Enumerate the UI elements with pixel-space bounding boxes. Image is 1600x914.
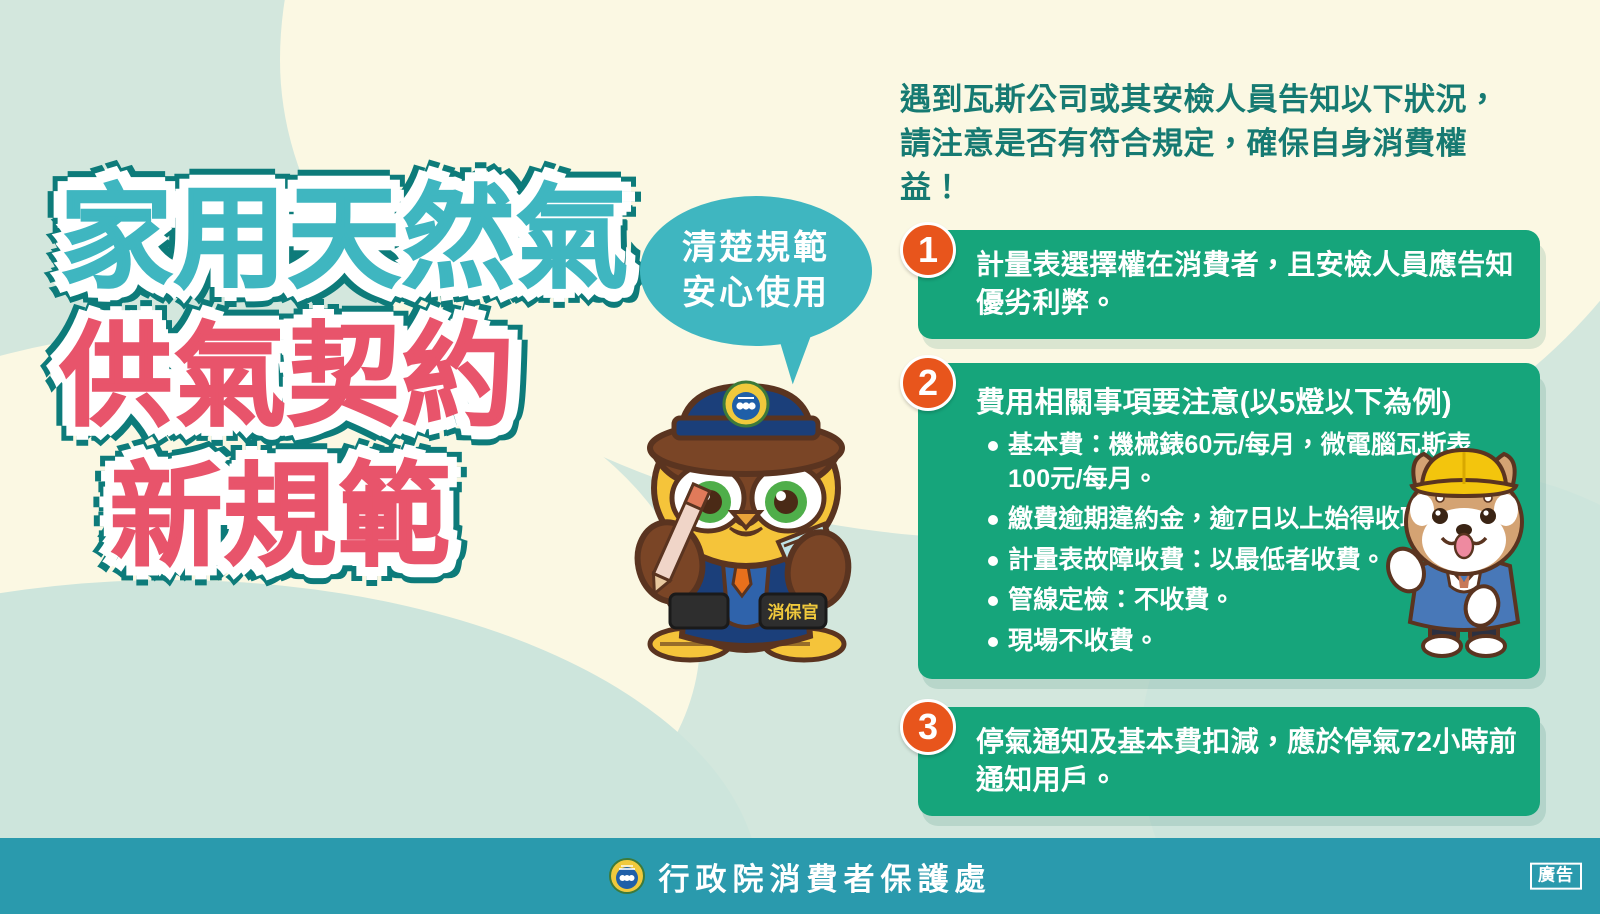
item-number-badge: 2 bbox=[900, 355, 956, 411]
item-number-badge: 1 bbox=[900, 222, 956, 278]
item-box: 1 計量表選擇權在消費者，且安檢人員應告知優劣利弊。 bbox=[918, 230, 1540, 339]
owl-mascot: 消保官 bbox=[612, 356, 880, 664]
ad-badge: 廣告 bbox=[1530, 863, 1582, 890]
title-line-2: 供氣契約 bbox=[60, 316, 680, 438]
item-text: 停氣通知及基本費扣減，應於停氣72小時前通知用戶。 bbox=[976, 723, 1520, 798]
bubble-line-2: 安心使用 bbox=[682, 271, 830, 316]
poster-title: 家用天然氣 供氣契約 新規範 bbox=[60, 178, 680, 579]
owl-badge: 消保官 bbox=[760, 594, 826, 628]
footer-agency-label: 行政院消費者保護處 bbox=[659, 854, 992, 899]
shiba-mascot bbox=[1378, 448, 1548, 660]
owl-police-cap bbox=[650, 382, 842, 474]
title-line-1: 家用天然氣 bbox=[60, 178, 680, 300]
item-heading: 費用相關事項要注意(以5燈以下為例) bbox=[976, 379, 1520, 421]
item-number-badge: 3 bbox=[900, 699, 956, 755]
title-line-3: 新規範 bbox=[110, 456, 680, 578]
list-item: 3 停氣通知及基本費扣減，應於停氣72小時前通知用戶。 bbox=[900, 707, 1540, 816]
government-logo-icon bbox=[609, 858, 645, 894]
item-box: 3 停氣通知及基本費扣減，應於停氣72小時前通知用戶。 bbox=[918, 707, 1540, 816]
speech-bubble: 清楚規範 安心使用 bbox=[640, 196, 872, 346]
list-item: 1 計量表選擇權在消費者，且安檢人員應告知優劣利弊。 bbox=[900, 230, 1540, 339]
footer-bar: 行政院消費者保護處 廣告 bbox=[0, 838, 1600, 914]
infographic-poster: 家用天然氣 供氣契約 新規範 清楚規範 安心使用 bbox=[0, 0, 1600, 914]
item-text: 計量表選擇權在消費者，且安檢人員應告知優劣利弊。 bbox=[976, 246, 1520, 321]
intro-text: 遇到瓦斯公司或其安檢人員告知以下狀況，請注意是否有符合規定，確保自身消費權益！ bbox=[900, 78, 1500, 210]
owl-badge-label: 消保官 bbox=[768, 602, 819, 622]
bubble-line-1: 清楚規範 bbox=[682, 226, 830, 271]
footer-agency: 行政院消費者保護處 bbox=[609, 854, 992, 899]
